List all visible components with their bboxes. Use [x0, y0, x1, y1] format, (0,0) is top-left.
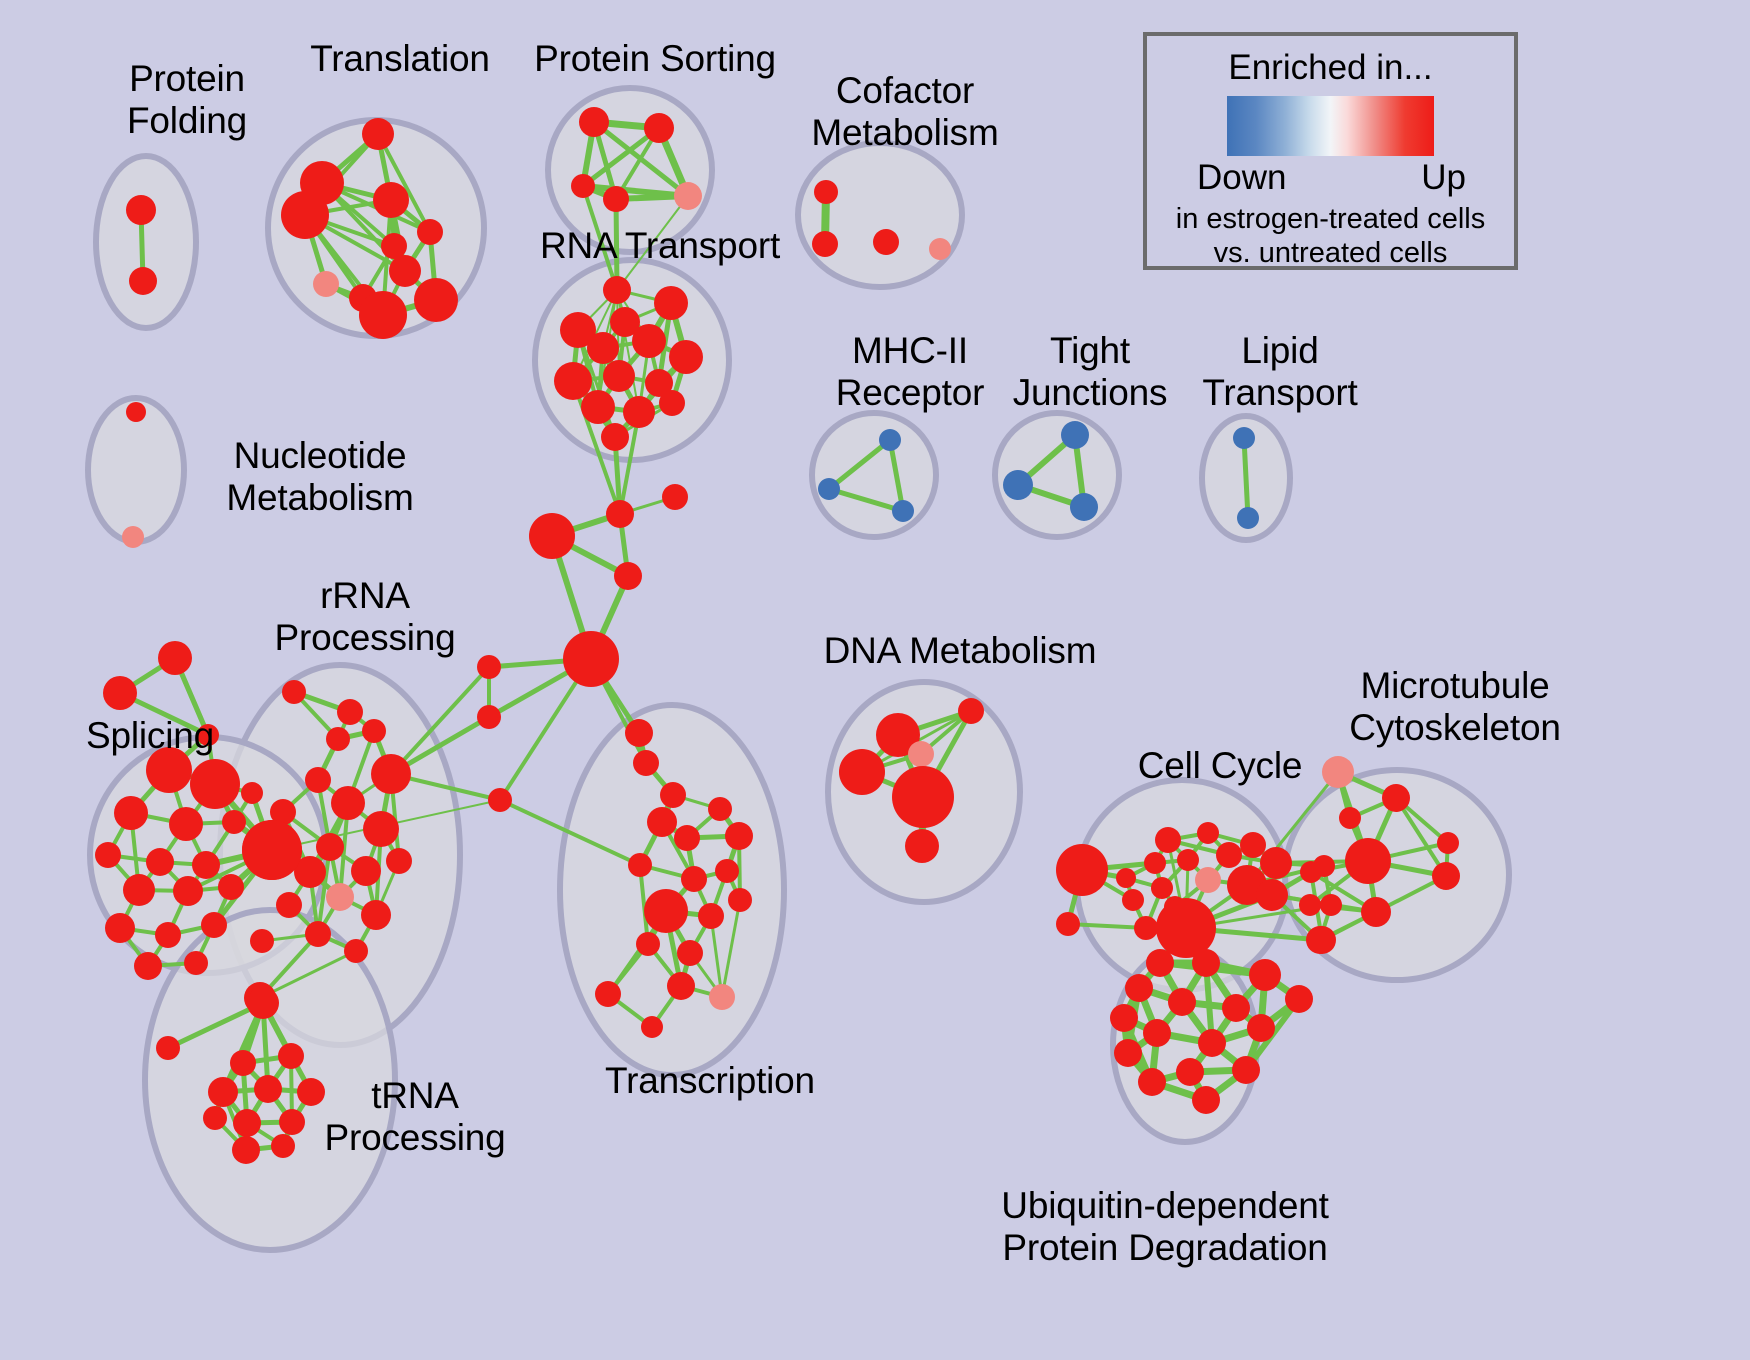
node[interactable] [1198, 1029, 1226, 1057]
node[interactable] [1382, 784, 1410, 812]
node[interactable] [892, 766, 954, 828]
node[interactable] [581, 390, 615, 424]
cluster-label-microtubule-cytoskeleton: Microtubule Cytoskeleton [1320, 665, 1590, 749]
node[interactable] [1437, 832, 1459, 854]
node[interactable] [1308, 926, 1336, 954]
node[interactable] [1320, 894, 1342, 916]
node[interactable] [1233, 427, 1255, 449]
node[interactable] [563, 631, 619, 687]
node[interactable] [1197, 822, 1219, 844]
node[interactable] [241, 782, 263, 804]
node[interactable] [1432, 862, 1460, 890]
node[interactable] [146, 848, 174, 876]
node[interactable] [156, 1036, 180, 1060]
node[interactable] [587, 332, 619, 364]
node[interactable] [232, 1136, 260, 1164]
node[interactable] [134, 952, 162, 980]
node[interactable] [1339, 807, 1361, 829]
node[interactable] [644, 113, 674, 143]
node[interactable] [316, 833, 344, 861]
node[interactable] [879, 429, 901, 451]
node[interactable] [1114, 1039, 1142, 1067]
node[interactable] [105, 913, 135, 943]
node[interactable] [250, 929, 274, 953]
node[interactable] [184, 951, 208, 975]
node[interactable] [1299, 894, 1321, 916]
legend-box: Enriched in... Down Up in estrogen-treat… [1143, 32, 1518, 270]
legend-up-label: Up [1421, 158, 1466, 198]
cluster-ellipse-protein-folding[interactable] [96, 156, 196, 328]
node[interactable] [603, 276, 631, 304]
node[interactable] [662, 484, 688, 510]
node[interactable] [351, 856, 381, 886]
node[interactable] [1110, 1004, 1138, 1032]
node[interactable] [654, 286, 688, 320]
node[interactable] [326, 727, 350, 751]
node[interactable] [173, 876, 203, 906]
node[interactable] [633, 750, 659, 776]
node[interactable] [254, 1075, 282, 1103]
node[interactable] [1056, 912, 1080, 936]
network-figure: Protein FoldingTranslationProtein Sortin… [0, 0, 1750, 1360]
cluster-label-rrna-processing: rRNA Processing [250, 575, 480, 659]
cluster-label-cofactor-metabolism: Cofactor Metabolism [790, 70, 1020, 154]
node[interactable] [271, 1134, 295, 1158]
node[interactable] [155, 922, 181, 948]
node[interactable] [632, 324, 666, 358]
node[interactable] [1247, 1014, 1275, 1042]
node[interactable] [728, 888, 752, 912]
node[interactable] [281, 191, 329, 239]
node[interactable] [571, 174, 595, 198]
cluster-label-dna-metabolism: DNA Metabolism [815, 630, 1105, 672]
node[interactable] [276, 892, 302, 918]
node[interactable] [929, 238, 951, 260]
node[interactable] [674, 182, 702, 210]
node[interactable] [389, 255, 421, 287]
node[interactable] [681, 866, 707, 892]
node[interactable] [331, 786, 365, 820]
node[interactable] [839, 749, 885, 795]
node[interactable] [1260, 847, 1292, 879]
node[interactable] [208, 1077, 238, 1107]
node[interactable] [595, 981, 621, 1007]
node[interactable] [386, 848, 412, 874]
legend-subtitle-line-1: in estrogen-treated cells [1147, 202, 1514, 236]
node[interactable] [363, 811, 399, 847]
node[interactable] [218, 874, 244, 900]
cluster-label-nucleotide-metabolism: Nucleotide Metabolism [200, 435, 440, 519]
node[interactable] [1156, 898, 1216, 958]
node[interactable] [725, 822, 753, 850]
node[interactable] [1070, 493, 1098, 521]
node[interactable] [1116, 868, 1136, 888]
node[interactable] [1056, 844, 1108, 896]
node[interactable] [1249, 959, 1281, 991]
node[interactable] [625, 719, 653, 747]
node[interactable] [1232, 1056, 1260, 1084]
node[interactable] [709, 984, 735, 1010]
node[interactable] [488, 788, 512, 812]
node[interactable] [1222, 994, 1250, 1022]
node[interactable] [126, 195, 156, 225]
node[interactable] [958, 698, 984, 724]
node[interactable] [278, 1043, 304, 1069]
node[interactable] [1125, 974, 1153, 1002]
node[interactable] [1151, 877, 1173, 899]
node[interactable] [628, 853, 652, 877]
node[interactable] [362, 719, 386, 743]
cluster-label-lipid-transport: Lipid Transport [1180, 330, 1380, 414]
node[interactable] [359, 291, 407, 339]
cluster-label-ubiquitin-degradation: Ubiquitin-dependent Protein Degradation [1000, 1185, 1330, 1269]
node[interactable] [1168, 988, 1196, 1016]
node[interactable] [667, 972, 695, 1000]
node[interactable] [1300, 861, 1322, 883]
node[interactable] [659, 390, 685, 416]
node[interactable] [381, 233, 407, 259]
node[interactable] [158, 641, 192, 675]
cluster-label-protein-sorting: Protein Sorting [505, 38, 805, 80]
node[interactable] [1361, 897, 1391, 927]
node[interactable] [1256, 879, 1288, 911]
node[interactable] [1146, 949, 1174, 977]
cluster-label-splicing: Splicing [60, 715, 240, 757]
node[interactable] [190, 759, 240, 809]
node[interactable] [677, 940, 703, 966]
node[interactable] [1195, 867, 1221, 893]
node[interactable] [477, 705, 501, 729]
node[interactable] [623, 396, 655, 428]
node[interactable] [905, 829, 939, 863]
node[interactable] [362, 118, 394, 150]
cluster-label-trna-processing: tRNA Processing [300, 1075, 530, 1159]
node[interactable] [1192, 1086, 1220, 1114]
node[interactable] [554, 362, 592, 400]
node[interactable] [908, 741, 934, 767]
node[interactable] [126, 402, 146, 422]
node[interactable] [892, 500, 914, 522]
node[interactable] [708, 797, 732, 821]
node[interactable] [233, 1109, 261, 1137]
node[interactable] [230, 1050, 256, 1076]
node[interactable] [201, 912, 227, 938]
node[interactable] [818, 478, 840, 500]
node[interactable] [305, 767, 331, 793]
node[interactable] [1192, 949, 1220, 977]
node[interactable] [123, 874, 155, 906]
cluster-ellipse-mhc-ii-receptor[interactable] [812, 413, 936, 537]
node[interactable] [601, 423, 629, 451]
node[interactable] [1155, 827, 1181, 853]
node[interactable] [614, 562, 642, 590]
node[interactable] [579, 107, 609, 137]
node[interactable] [1176, 1058, 1204, 1086]
node[interactable] [477, 655, 501, 679]
legend-title: Enriched in... [1147, 48, 1514, 88]
node[interactable] [203, 1106, 227, 1130]
node[interactable] [1177, 849, 1199, 871]
node[interactable] [122, 526, 144, 548]
legend-subtitle-line-2: vs. untreated cells [1147, 236, 1514, 270]
node[interactable] [603, 360, 635, 392]
node[interactable] [129, 267, 157, 295]
legend-down-label: Down [1197, 158, 1286, 198]
node[interactable] [674, 825, 700, 851]
node[interactable] [1144, 852, 1166, 874]
cluster-label-translation: Translation [270, 38, 530, 80]
node[interactable] [326, 883, 354, 911]
node[interactable] [1061, 421, 1089, 449]
node[interactable] [660, 782, 686, 808]
cluster-label-transcription: Transcription [575, 1060, 845, 1102]
node[interactable] [1134, 916, 1158, 940]
node[interactable] [647, 807, 677, 837]
cluster-label-tight-junctions: Tight Junctions [990, 330, 1190, 414]
node[interactable] [313, 271, 339, 297]
cluster-label-mhc-ii-receptor: MHC-II Receptor [810, 330, 1010, 414]
node[interactable] [414, 278, 458, 322]
node[interactable] [361, 900, 391, 930]
node[interactable] [644, 889, 688, 933]
node[interactable] [242, 820, 302, 880]
node[interactable] [636, 932, 660, 956]
node[interactable] [1237, 507, 1259, 529]
node[interactable] [1285, 985, 1313, 1013]
node[interactable] [1345, 838, 1391, 884]
node[interactable] [417, 219, 443, 245]
node[interactable] [114, 796, 148, 830]
node[interactable] [812, 231, 838, 257]
node[interactable] [1003, 470, 1033, 500]
node[interactable] [641, 1016, 663, 1038]
node[interactable] [1143, 1019, 1171, 1047]
node[interactable] [606, 500, 634, 528]
cluster-label-rna-transport: RNA Transport [515, 225, 805, 267]
node[interactable] [95, 842, 121, 868]
node[interactable] [103, 676, 137, 710]
node[interactable] [1216, 842, 1242, 868]
node[interactable] [814, 180, 838, 204]
node[interactable] [603, 186, 629, 212]
node[interactable] [192, 851, 220, 879]
node[interactable] [698, 903, 724, 929]
cluster-label-cell-cycle: Cell Cycle [1110, 745, 1330, 787]
node[interactable] [1240, 832, 1266, 858]
node[interactable] [169, 807, 203, 841]
node[interactable] [247, 987, 279, 1019]
cluster-label-protein-folding: Protein Folding [82, 58, 292, 142]
node[interactable] [344, 939, 368, 963]
node[interactable] [873, 229, 899, 255]
node[interactable] [529, 513, 575, 559]
node[interactable] [715, 859, 739, 883]
node[interactable] [282, 680, 306, 704]
node[interactable] [305, 921, 331, 947]
node[interactable] [1138, 1068, 1166, 1096]
node[interactable] [337, 699, 363, 725]
node[interactable] [1122, 889, 1144, 911]
legend-endpoints: Down Up [1147, 158, 1514, 202]
node[interactable] [222, 810, 246, 834]
color-scale-bar [1227, 96, 1434, 156]
node[interactable] [669, 340, 703, 374]
node[interactable] [371, 754, 411, 794]
node[interactable] [373, 182, 409, 218]
